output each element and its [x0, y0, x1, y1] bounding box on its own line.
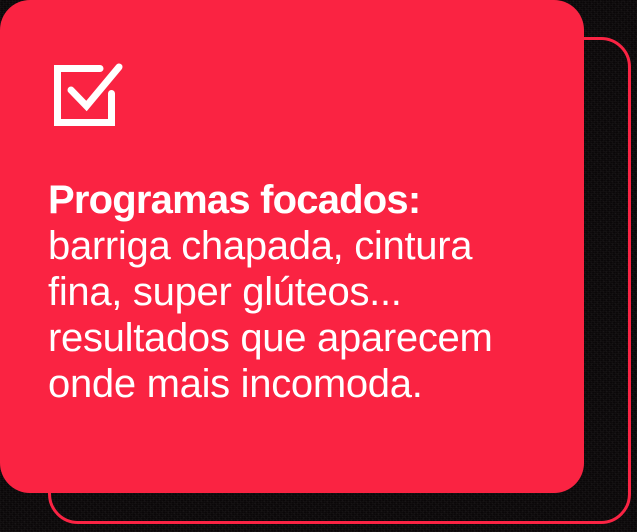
card-content: Programas focados: barriga chapada, cint…: [48, 52, 544, 407]
card-body-text: barriga chapada, cintura fina, super glú…: [48, 224, 493, 406]
card-copy: Programas focados: barriga chapada, cint…: [48, 177, 518, 407]
card-heading: Programas focados:: [48, 178, 420, 222]
checkbox-checked-icon: [48, 52, 128, 132]
slide-canvas: Programas focados: barriga chapada, cint…: [0, 0, 637, 532]
feature-card: Programas focados: barriga chapada, cint…: [0, 0, 584, 493]
